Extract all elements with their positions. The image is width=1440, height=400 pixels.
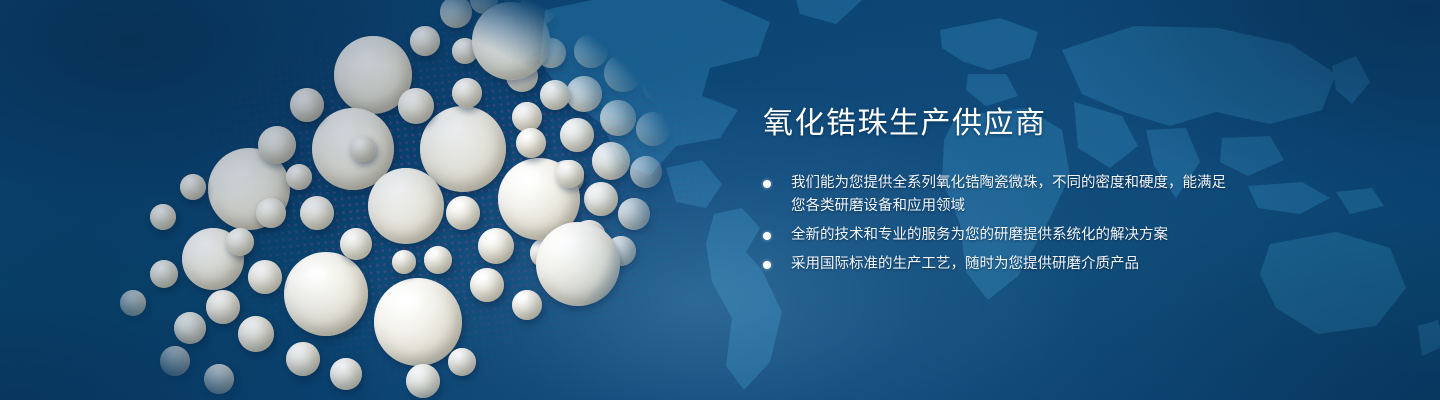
background-vignette [0, 0, 1440, 400]
hero-banner: 氧化锆珠生产供应商 我们能为您提供全系列氧化锆陶瓷微珠，不同的密度和硬度，能满足… [0, 0, 1440, 400]
